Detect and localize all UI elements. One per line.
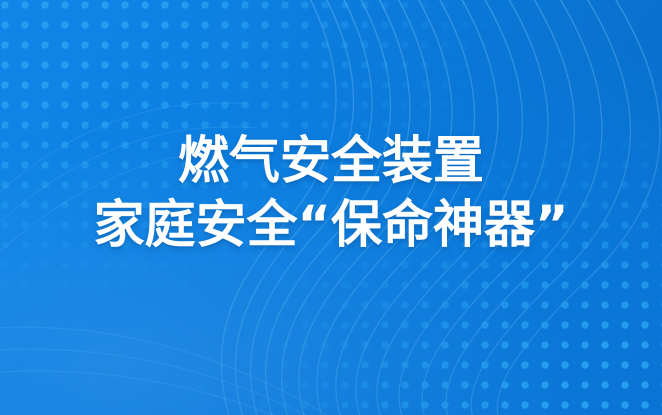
headline-line-2: 家庭安全“保命神器”: [0, 195, 662, 257]
promo-banner: 燃气安全装置 家庭安全“保命神器”: [0, 0, 662, 415]
headline-block: 燃气安全装置 家庭安全“保命神器”: [0, 132, 662, 257]
headline-line-1: 燃气安全装置: [0, 132, 662, 192]
